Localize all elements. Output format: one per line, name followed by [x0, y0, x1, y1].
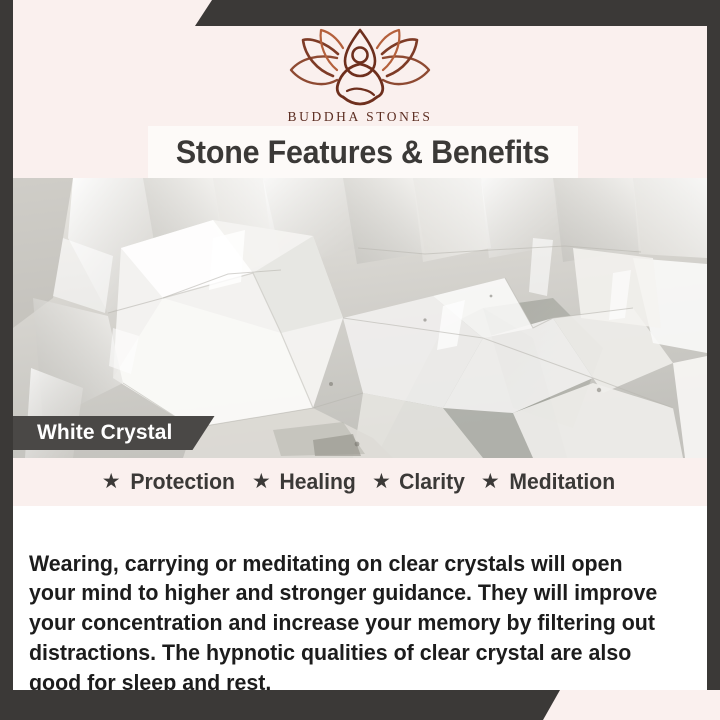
star-icon: ★ [102, 471, 121, 492]
benefit-label: Meditation [509, 469, 615, 495]
card-header: BUDDHA STONES Stone Features & Benefits [13, 26, 707, 178]
product-info-card: BUDDHA STONES Stone Features & Benefits [0, 0, 720, 720]
page-title: Stone Features & Benefits [176, 134, 550, 171]
benefit-item-protection: ★ Protection [102, 469, 238, 495]
benefit-item-meditation: ★ Meditation [481, 469, 618, 495]
star-icon: ★ [372, 471, 391, 492]
title-banner: Stone Features & Benefits [148, 126, 578, 178]
frame-edge-left [0, 0, 13, 700]
frame-edge-right [707, 0, 720, 690]
brand-name: BUDDHA STONES [288, 109, 433, 125]
benefit-item-clarity: ★ Clarity [372, 469, 467, 495]
hero-label-text: White Crystal [37, 421, 173, 445]
frame-edge-bottom [0, 690, 560, 720]
benefit-label: Clarity [399, 469, 465, 495]
lotus-meditation-figure-icon [275, 28, 445, 106]
description-text: Wearing, carrying or meditating on clear… [29, 549, 662, 691]
description-area: Wearing, carrying or meditating on clear… [13, 506, 707, 690]
card-inner: BUDDHA STONES Stone Features & Benefits [13, 26, 707, 690]
hero-label-badge: White Crystal [13, 416, 215, 450]
benefit-label: Healing [279, 469, 355, 495]
frame-edge-top [195, 0, 720, 26]
benefit-item-healing: ★ Healing [252, 469, 358, 495]
benefit-label: Protection [130, 469, 235, 495]
brand-logo: BUDDHA STONES [13, 28, 707, 125]
star-icon: ★ [481, 471, 500, 492]
benefits-bar: ★ Protection ★ Healing ★ Clarity ★ Medit… [13, 458, 707, 506]
star-icon: ★ [252, 471, 271, 492]
hero-image: White Crystal [13, 178, 707, 458]
